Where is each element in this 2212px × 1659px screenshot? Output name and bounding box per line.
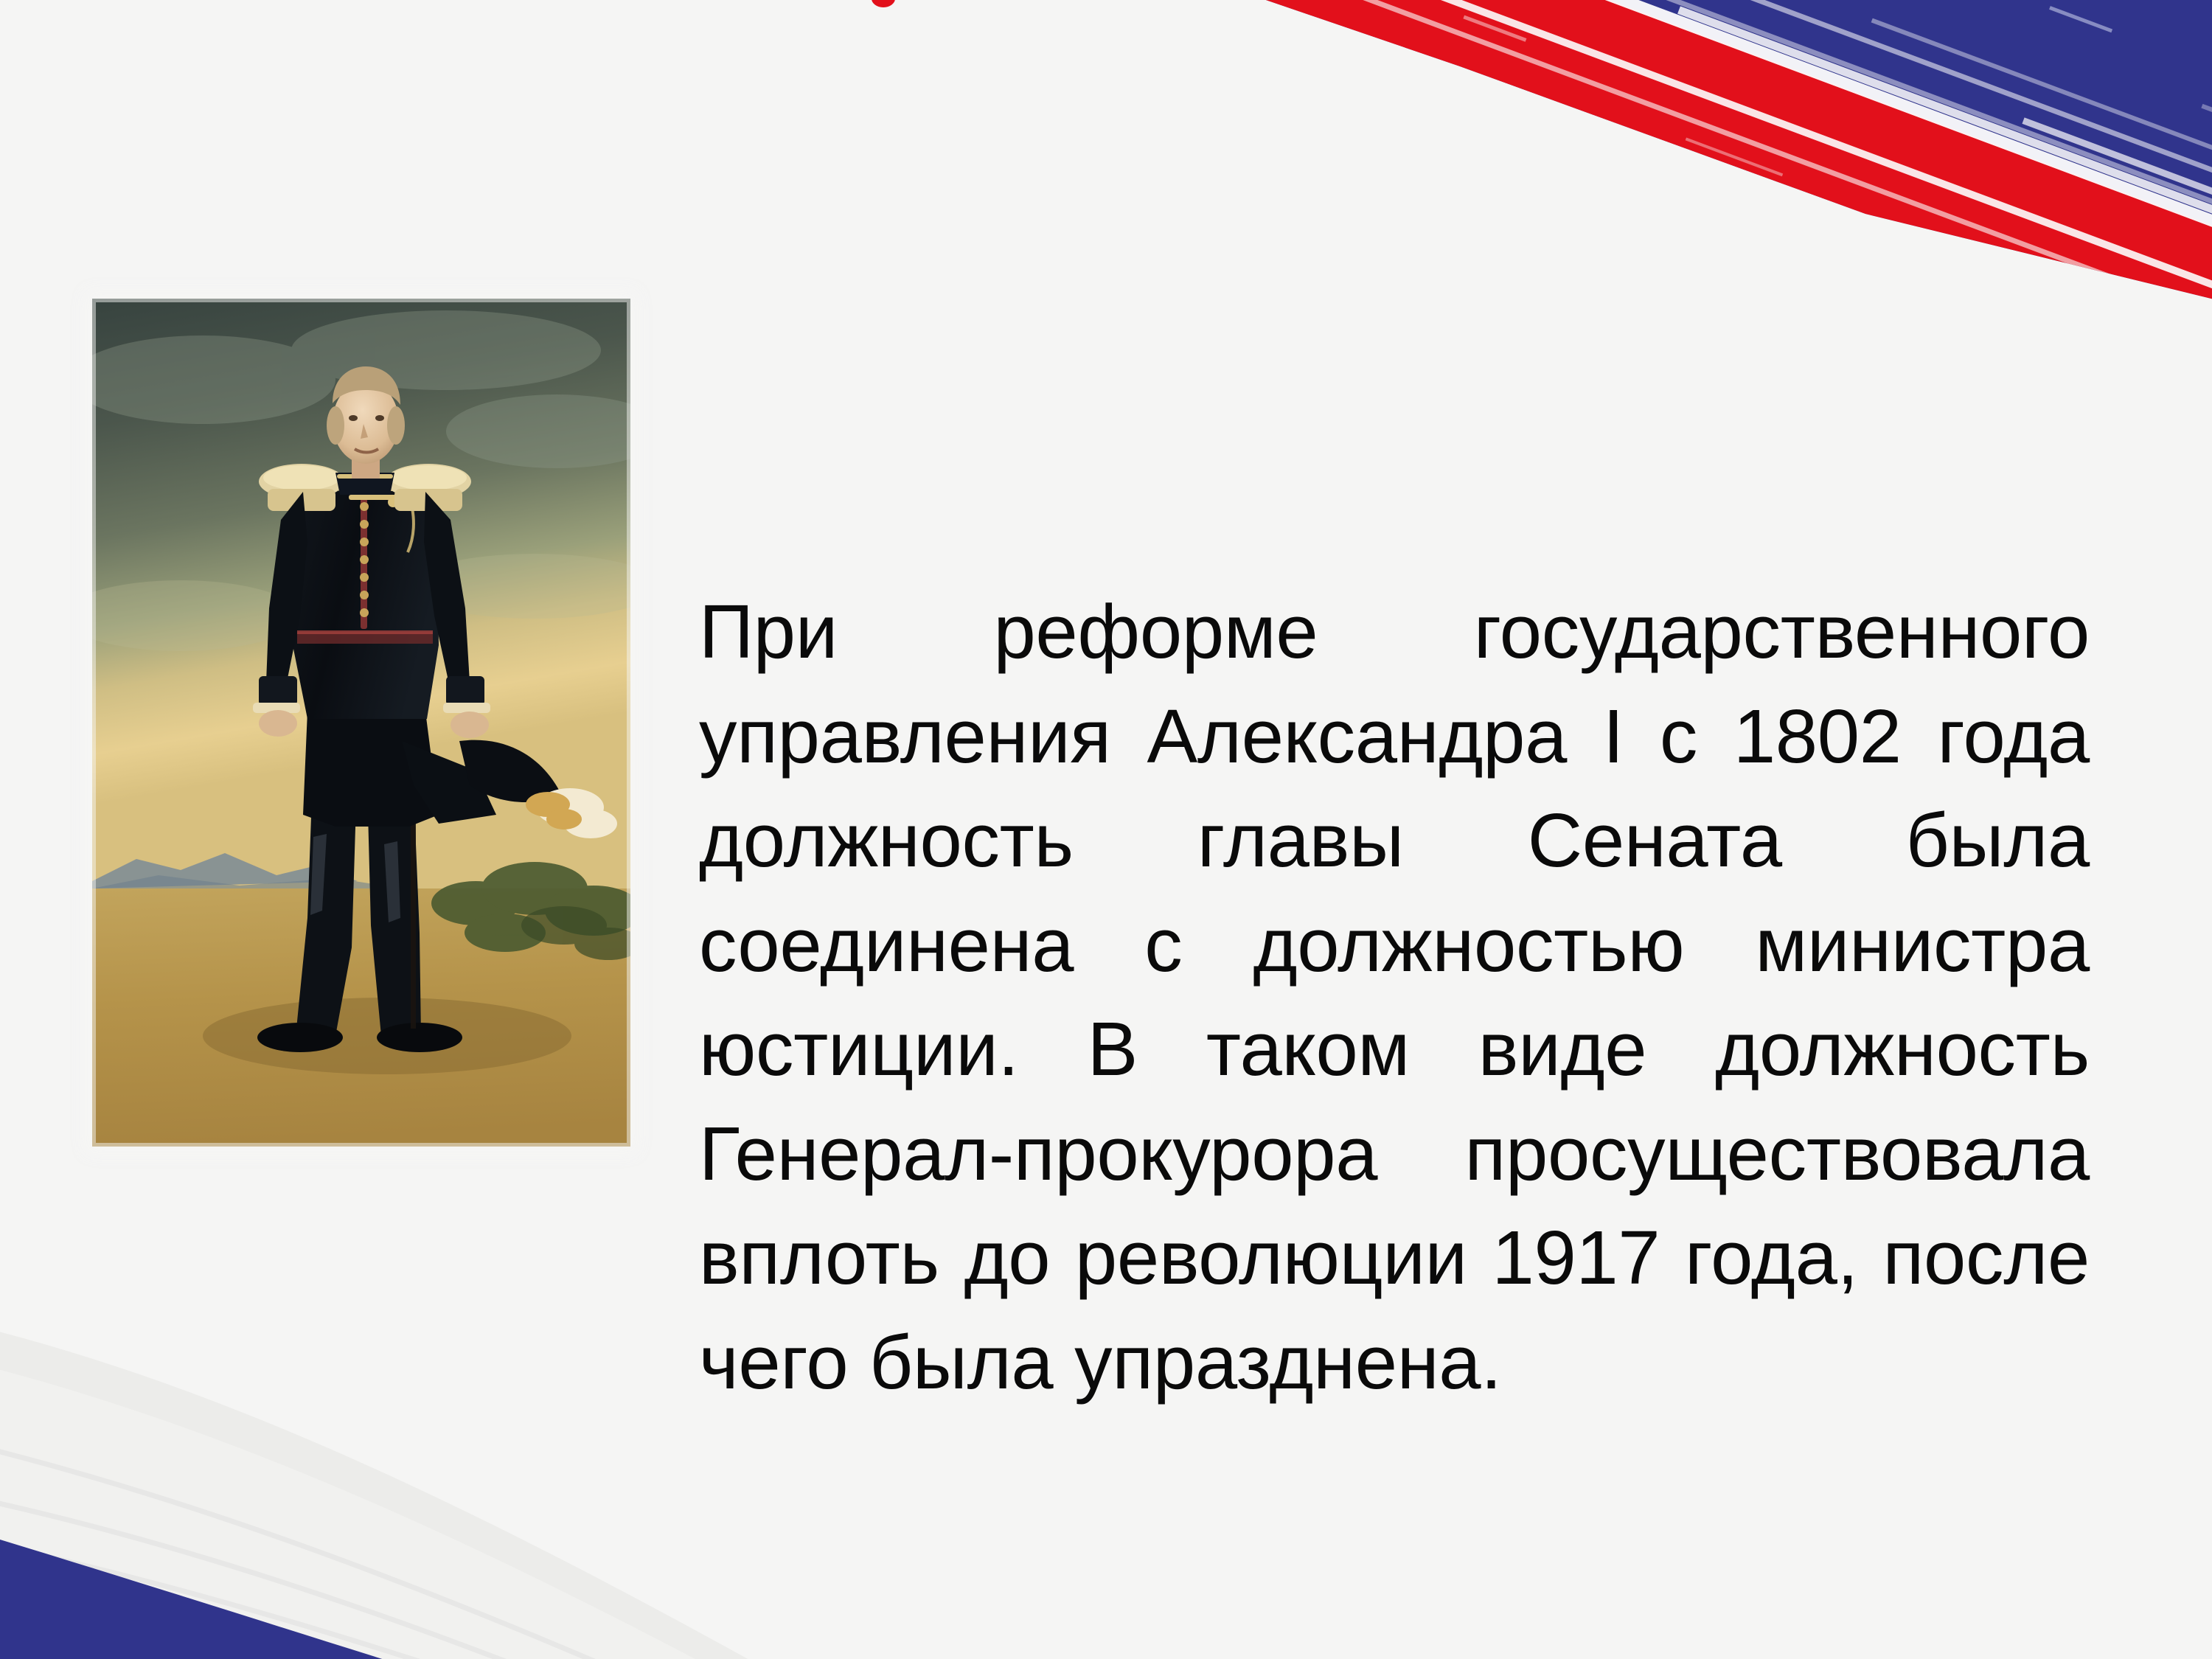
slide-body-text: При реформе государственного управления … — [699, 580, 2090, 1414]
russian-flag-brushstroke-top-icon — [796, 0, 2212, 605]
slide-canvas: При реформе государственного управления … — [0, 0, 2212, 1659]
portrait-alexander-i — [92, 299, 630, 1147]
